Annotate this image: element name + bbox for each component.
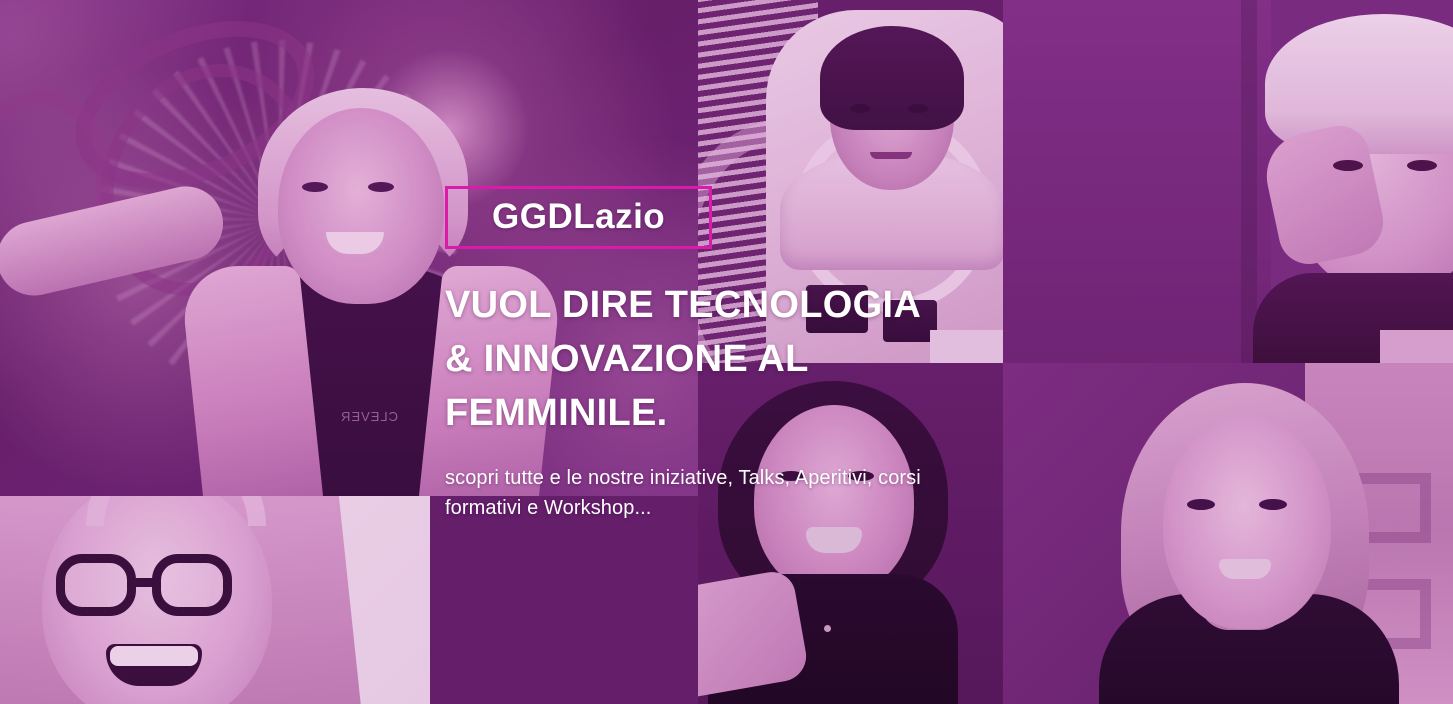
- logo-label: GGDLazio: [492, 199, 665, 234]
- eyeglasses-bridge-icon: [136, 578, 158, 587]
- eyeglasses-lens-icon: [56, 554, 136, 616]
- eye-shape: [1187, 499, 1215, 510]
- eye-shape: [1333, 160, 1363, 171]
- actress-artwork: [1003, 363, 1453, 704]
- eye-shape: [1407, 160, 1437, 171]
- mosaic-tile-actress: [1003, 363, 1453, 704]
- microphone-icon: [824, 625, 831, 632]
- hero-subtitle: scopri tutte e le nostre iniziative, Tal…: [445, 463, 1045, 524]
- eyeglasses-lens-icon: [152, 554, 232, 616]
- hero-banner: CLEVER: [0, 0, 1453, 704]
- head-shape: [278, 108, 444, 304]
- student-artwork: [0, 496, 430, 704]
- eye-shape: [302, 182, 328, 192]
- logo-badge[interactable]: GGDLazio: [445, 186, 712, 249]
- mouth-shape: [806, 527, 862, 553]
- mouth-shape: [1219, 559, 1271, 579]
- eye-shape: [368, 182, 394, 192]
- headline-line-1: VUOL DIRE TECNOLOGIA: [445, 279, 1045, 333]
- hair-shape: [820, 26, 964, 130]
- subtitle-line-1: scopri tutte e le nostre iniziative, Tal…: [445, 463, 1045, 493]
- teeth-shape: [110, 646, 198, 666]
- elder-artwork: [1003, 0, 1453, 363]
- smile-shape: [106, 644, 202, 686]
- page-title: VUOL DIRE TECNOLOGIA & INNOVAZIONE AL FE…: [445, 279, 1045, 441]
- headline-line-2: & INNOVAZIONE AL: [445, 333, 1045, 387]
- eye-shape: [850, 104, 870, 113]
- headphones-icon: [86, 496, 266, 526]
- eye-shape: [908, 104, 928, 113]
- eye-shape: [1259, 499, 1287, 510]
- headline-line-3: FEMMINILE.: [445, 387, 1045, 441]
- mosaic-tile-elder-scientist: [1003, 0, 1453, 363]
- mosaic-seam-block: [1380, 330, 1453, 364]
- mosaic-tile-student-glasses: [0, 496, 430, 704]
- shirt-print-text: CLEVER: [340, 409, 398, 424]
- subtitle-line-2: formativi e Workshop...: [445, 493, 1045, 523]
- face-shape: [1163, 417, 1331, 629]
- hero-copy: GGDLazio VUOL DIRE TECNOLOGIA & INNOVAZI…: [445, 186, 1045, 524]
- mouth-shape: [870, 152, 912, 159]
- backdrop-band-edge: [1241, 0, 1257, 363]
